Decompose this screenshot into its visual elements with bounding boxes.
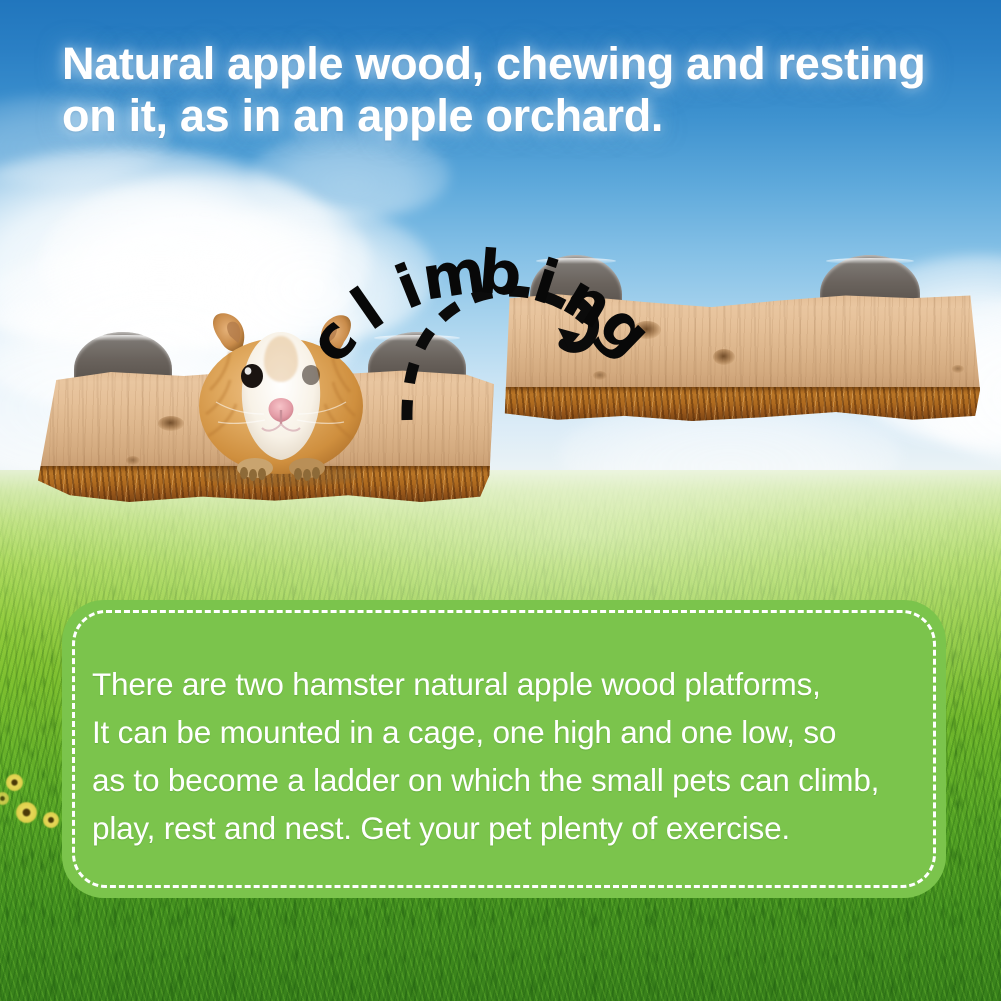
flower-icon bbox=[16, 802, 37, 823]
flower-icon bbox=[43, 812, 59, 828]
guinea-pig-eye-left bbox=[241, 364, 263, 388]
wood-knot bbox=[126, 456, 140, 465]
description-text: There are two hamster natural apple wood… bbox=[92, 660, 922, 852]
wood-knot bbox=[713, 349, 735, 365]
climbing-annotation: climbing bbox=[318, 208, 648, 423]
flower-icon bbox=[6, 774, 23, 791]
description-panel: There are two hamster natural apple wood… bbox=[62, 600, 946, 898]
product-infographic: Natural apple wood, chewing and resting … bbox=[0, 0, 1001, 1001]
flower-icon bbox=[0, 792, 9, 805]
headline-text: Natural apple wood, chewing and resting … bbox=[62, 38, 962, 142]
yellow-flowers bbox=[0, 770, 70, 850]
wood-knot bbox=[952, 365, 964, 373]
climbing-label-char: b bbox=[476, 237, 524, 310]
